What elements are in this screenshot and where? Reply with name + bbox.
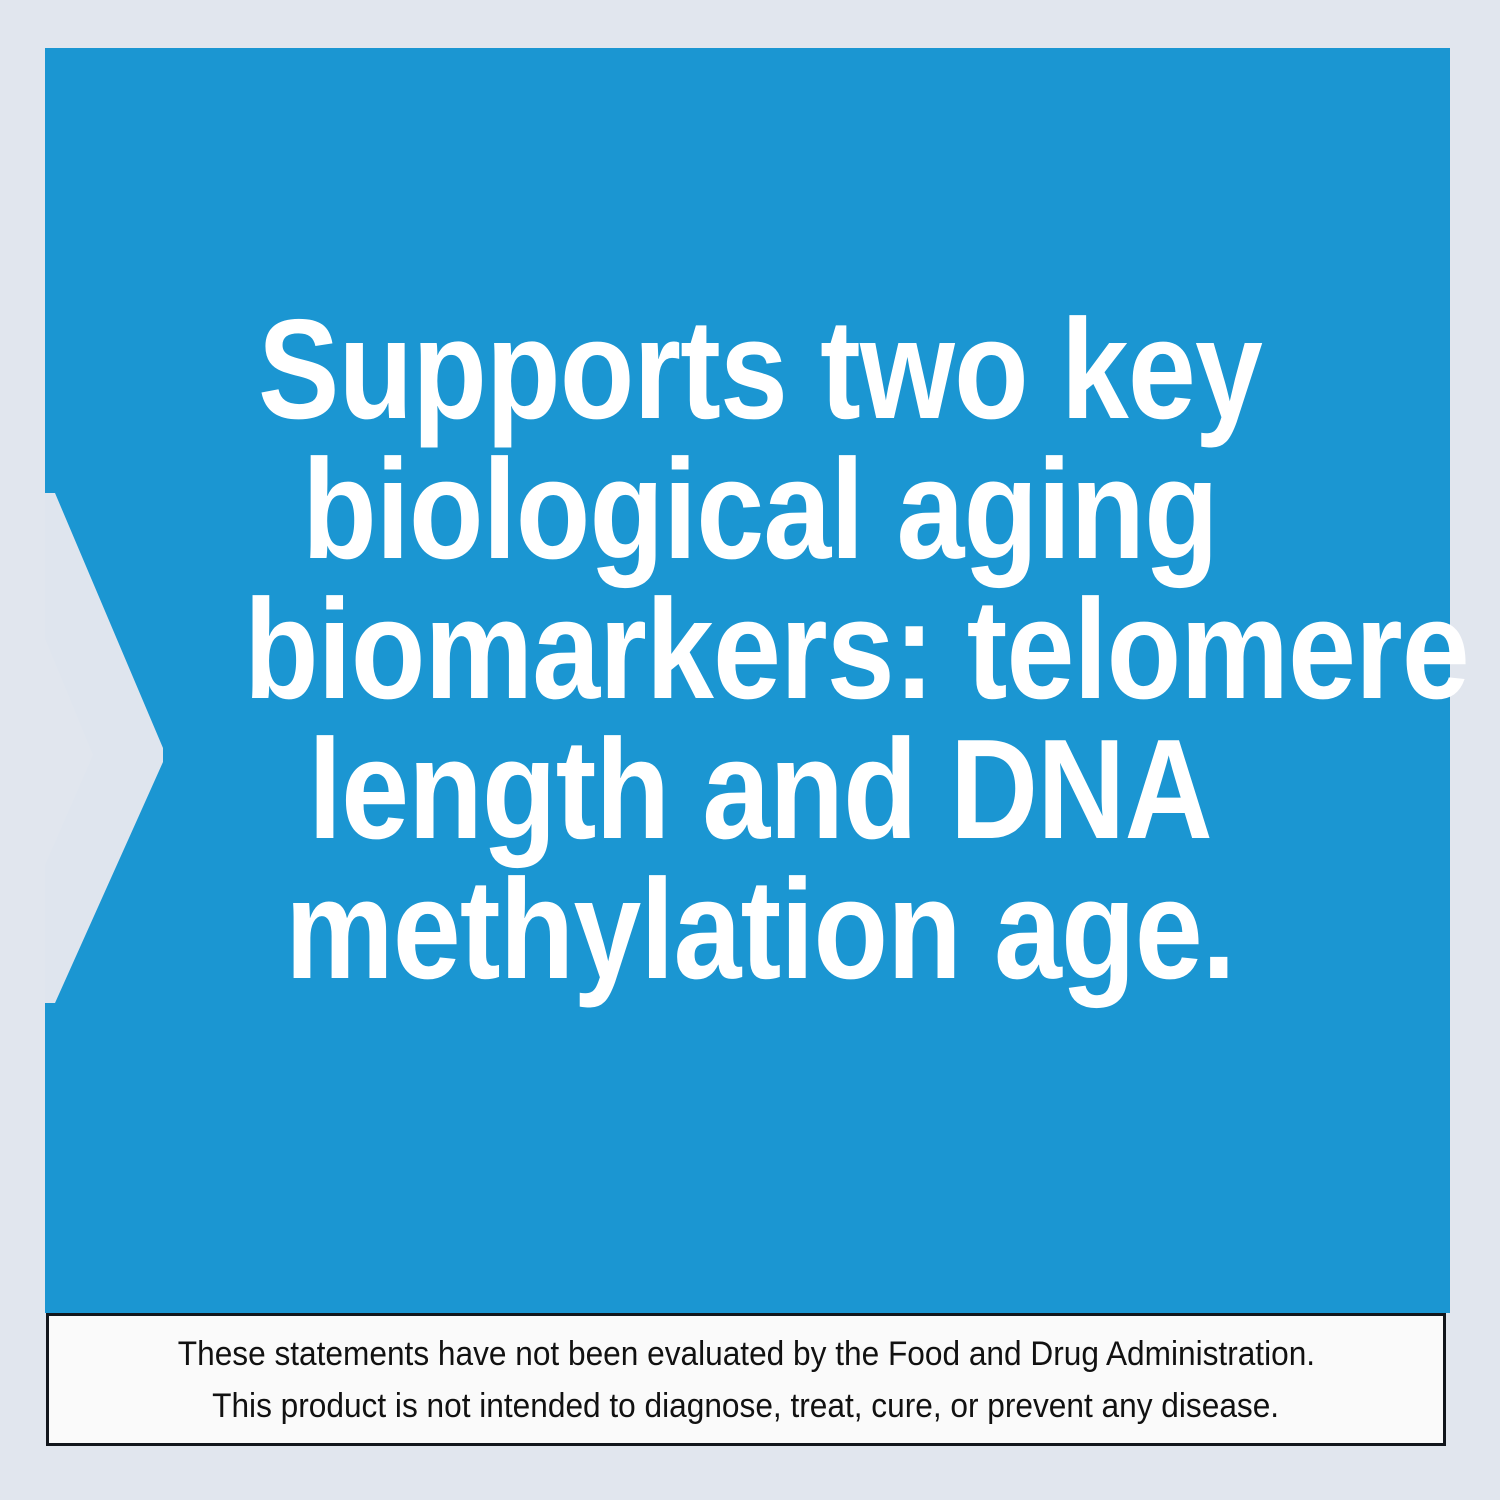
blue-panel-fill <box>45 48 1450 1313</box>
blue-panel-shape <box>45 48 1450 1313</box>
disclaimer-line-2: This product is not intended to diagnose… <box>213 1380 1280 1432</box>
fda-disclaimer-box: These statements have not been evaluated… <box>46 1313 1446 1446</box>
disclaimer-line-1: These statements have not been evaluated… <box>177 1328 1314 1380</box>
blue-claim-panel <box>45 48 1450 1313</box>
product-claim-graphic: Supports two key biological aging biomar… <box>0 0 1500 1500</box>
